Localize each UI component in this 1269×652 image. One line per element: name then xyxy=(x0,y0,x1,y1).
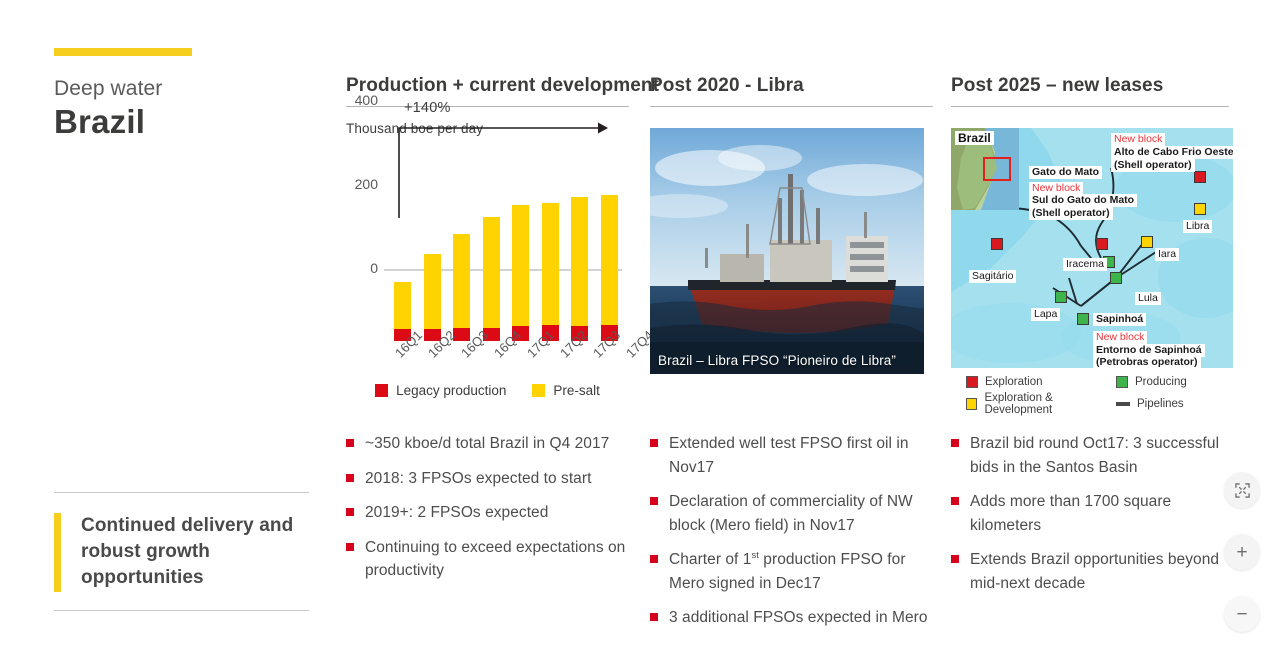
bullet-text: Adds more than 1700 square kilometers xyxy=(970,490,1239,537)
chart-bar-stack xyxy=(483,217,500,341)
chart-bar-stack xyxy=(424,254,441,341)
map-label-sul-do-gato-do-mato: Sul do Gato do Mato xyxy=(1029,194,1137,207)
chart-segment-presalt xyxy=(571,197,588,326)
map-label-entorno-operator: (Petrobras operator) xyxy=(1093,356,1201,368)
production-bar-chart: Thousand boe per day 0 200 400 +140% 16Q… xyxy=(346,121,626,359)
chart-bar-stack xyxy=(571,197,588,341)
bullet-item: Adds more than 1700 square kilometers xyxy=(951,490,1239,537)
map-marker-expdev-libra xyxy=(1194,203,1206,215)
chart-bar-17Q1 xyxy=(508,138,534,341)
chart-plot-area: 0 200 400 +140% 16Q116Q216Q316Q417Q117Q2… xyxy=(346,138,626,343)
bullet-item: Declaration of commerciality of NW block… xyxy=(650,490,940,537)
bullet-marker-icon xyxy=(650,497,658,505)
bullet-item: Extended well test FPSO first oil in Nov… xyxy=(650,432,940,479)
map-legend-line-pipelines xyxy=(1116,402,1130,406)
bullet-marker-icon xyxy=(650,555,658,563)
bullet-text: Extended well test FPSO first oil in Nov… xyxy=(669,432,940,479)
bullet-marker-icon xyxy=(650,613,658,621)
map-label-lula: Lula xyxy=(1135,292,1161,305)
map-marker-producing-lapa xyxy=(1055,291,1067,303)
map-legend-producing: Producing xyxy=(1116,376,1236,388)
brazil-offshore-map: Brazil Gato do Mato New block Sul do Gat… xyxy=(951,128,1233,368)
bullet-marker-icon xyxy=(346,439,354,447)
map-legend-pipelines: Pipelines xyxy=(1116,392,1236,416)
bullet-list-new-leases: Brazil bid round Oct17: 3 successful bid… xyxy=(951,432,1239,606)
bullet-text: 2018: 3 FPSOs expected to start xyxy=(365,467,591,491)
map-label-alto-operator: (Shell operator) xyxy=(1111,159,1195,172)
map-legend-label-exploration-development: Exploration & Development xyxy=(984,392,1116,416)
chart-segment-presalt xyxy=(453,234,470,328)
bullet-text: Charter of 1st production FPSO for Mero … xyxy=(669,548,940,595)
map-label-iara: Iara xyxy=(1155,248,1179,261)
map-legend: Exploration Producing Exploration & Deve… xyxy=(966,376,1246,416)
zoom-out-button[interactable]: − xyxy=(1224,596,1260,632)
bullet-marker-icon xyxy=(346,508,354,516)
zoom-in-button[interactable]: + xyxy=(1224,534,1260,570)
chart-bar-16Q1 xyxy=(390,138,416,341)
column-heading-libra: Post 2020 - Libra xyxy=(650,74,933,107)
column-libra: Post 2020 - Libra xyxy=(650,74,933,107)
map-label-gato-do-mato: Gato do Mato xyxy=(1029,166,1102,179)
slide-header-block: Deep water Brazil xyxy=(54,48,322,140)
fit-to-screen-button[interactable] xyxy=(1224,472,1260,508)
map-marker-exploration-center xyxy=(1096,238,1108,250)
legend-swatch-legacy xyxy=(375,384,388,397)
bullet-text: ~350 kboe/d total Brazil in Q4 2017 xyxy=(365,432,609,456)
callout-text: Continued delivery and robust growth opp… xyxy=(81,513,309,592)
slide-root: Deep water Brazil Continued delivery and… xyxy=(0,0,1269,652)
bullet-marker-icon xyxy=(951,555,959,563)
fpso-photo-graphic xyxy=(650,128,924,374)
bullet-item: Brazil bid round Oct17: 3 successful bid… xyxy=(951,432,1239,479)
bullet-text: 2019+: 2 FPSOs expected xyxy=(365,501,548,525)
bullet-item: Charter of 1st production FPSO for Mero … xyxy=(650,548,940,595)
column-heading-production: Production + current development xyxy=(346,74,629,107)
bullet-marker-icon xyxy=(650,439,658,447)
chart-segment-presalt xyxy=(483,217,500,328)
bullet-superscript: st xyxy=(751,550,759,561)
legend-label-legacy: Legacy production xyxy=(396,383,506,398)
map-legend-label-pipelines: Pipelines xyxy=(1137,398,1184,410)
map-marker-producing-sapinhoa xyxy=(1077,313,1089,325)
map-label-sagitario: Sagitário xyxy=(969,270,1016,283)
y-tick-0: 0 xyxy=(346,260,378,276)
zoom-in-icon: + xyxy=(1236,543,1247,562)
y-tick-400: 400 xyxy=(346,92,378,108)
accent-bar xyxy=(54,48,192,56)
chart-bar-stack xyxy=(512,205,529,341)
bullet-item: ~350 kboe/d total Brazil in Q4 2017 xyxy=(346,432,631,456)
y-tick-200: 200 xyxy=(346,176,378,192)
column-new-leases: Post 2025 – new leases xyxy=(951,74,1234,107)
fit-to-screen-icon xyxy=(1235,483,1250,498)
chart-bar-stack xyxy=(601,195,618,341)
chart-segment-presalt xyxy=(601,195,618,325)
legend-swatch-presalt xyxy=(532,384,545,397)
chart-segment-presalt xyxy=(512,205,529,326)
bullet-marker-icon xyxy=(346,474,354,482)
map-legend-swatch-exploration xyxy=(966,376,978,388)
chart-bar-16Q3 xyxy=(449,138,475,341)
map-marker-producing-lula xyxy=(1110,272,1122,284)
map-label-iracema: Iracema xyxy=(1063,258,1107,271)
map-label-new-block-2: New block xyxy=(1111,133,1165,146)
bullet-text: Continuing to exceed expectations on pro… xyxy=(365,536,631,583)
map-legend-swatch-producing xyxy=(1116,376,1128,388)
viewer-controls[interactable]: + − xyxy=(1224,472,1260,652)
column-production: Production + current development Thousan… xyxy=(346,74,629,359)
legend-item-presalt: Pre-salt xyxy=(532,383,600,398)
callout-accent-bar xyxy=(54,513,61,592)
chart-bar-17Q2 xyxy=(538,138,564,341)
growth-annotation-label: +140% xyxy=(404,100,451,116)
bullet-item: 2018: 3 FPSOs expected to start xyxy=(346,467,631,491)
map-label-lapa: Lapa xyxy=(1031,308,1060,321)
page-title: Brazil xyxy=(54,104,322,140)
photo-caption: Brazil – Libra FPSO “Pioneiro de Libra” xyxy=(658,353,896,368)
bullet-item: 3 additional FPSOs expected in Mero xyxy=(650,606,940,630)
chart-segment-presalt xyxy=(424,254,441,329)
chart-segment-presalt xyxy=(394,282,411,329)
chart-bar-16Q2 xyxy=(420,138,446,341)
map-legend-label-producing: Producing xyxy=(1135,376,1187,388)
map-legend-exploration: Exploration xyxy=(966,376,1116,388)
map-inset-title: Brazil xyxy=(955,131,994,145)
map-legend-exploration-development: Exploration & Development xyxy=(966,392,1116,416)
bullet-list-production: ~350 kboe/d total Brazil in Q4 20172018:… xyxy=(346,432,631,594)
bullet-text: Brazil bid round Oct17: 3 successful bid… xyxy=(970,432,1239,479)
map-legend-swatch-exploration-development xyxy=(966,398,977,410)
zoom-out-icon: − xyxy=(1236,605,1247,624)
bullet-item: Continuing to exceed expectations on pro… xyxy=(346,536,631,583)
column-heading-new-leases: Post 2025 – new leases xyxy=(951,74,1229,107)
bullet-marker-icon xyxy=(951,497,959,505)
fpso-photo: Brazil – Libra FPSO “Pioneiro de Libra” xyxy=(650,128,924,374)
map-marker-exploration-sagitario xyxy=(991,238,1003,250)
map-label-sapinhoa: Sapinhoá xyxy=(1093,313,1146,326)
bullet-marker-icon xyxy=(346,543,354,551)
slide-kicker: Deep water xyxy=(54,77,322,100)
chart-bar-16Q4 xyxy=(479,138,505,341)
map-marker-exploration-alto xyxy=(1194,171,1206,183)
bullet-text: Declaration of commerciality of NW block… xyxy=(669,490,940,537)
map-label-sul-do-gato-operator: (Shell operator) xyxy=(1029,207,1113,220)
legend-item-legacy: Legacy production xyxy=(375,383,506,398)
map-label-new-block-3: New block xyxy=(1093,331,1147,344)
bullet-marker-icon xyxy=(951,439,959,447)
chart-segment-presalt xyxy=(542,203,559,325)
chart-bars xyxy=(390,138,626,341)
bullet-item: 2019+: 2 FPSOs expected xyxy=(346,501,631,525)
bullet-text: 3 additional FPSOs expected in Mero xyxy=(669,606,928,630)
bullet-text: Extends Brazil opportunities beyond mid-… xyxy=(970,548,1239,595)
map-label-libra: Libra xyxy=(1183,220,1212,233)
map-label-alto-de-cabo-frio-oeste: Alto de Cabo Frio Oeste xyxy=(1111,146,1233,159)
map-marker-expdev-iara xyxy=(1141,236,1153,248)
callout-box: Continued delivery and robust growth opp… xyxy=(54,492,309,611)
chart-bar-stack xyxy=(453,234,470,341)
chart-bar-stack xyxy=(542,203,559,341)
chart-bar-17Q4 xyxy=(597,138,623,341)
map-legend-label-exploration: Exploration xyxy=(985,376,1043,388)
legend-label-presalt: Pre-salt xyxy=(553,383,600,398)
bullet-item: Extends Brazil opportunities beyond mid-… xyxy=(951,548,1239,595)
chart-bar-17Q3 xyxy=(567,138,593,341)
bullet-list-libra: Extended well test FPSO first oil in Nov… xyxy=(650,432,940,641)
chart-legend: Legacy production Pre-salt xyxy=(346,383,629,398)
